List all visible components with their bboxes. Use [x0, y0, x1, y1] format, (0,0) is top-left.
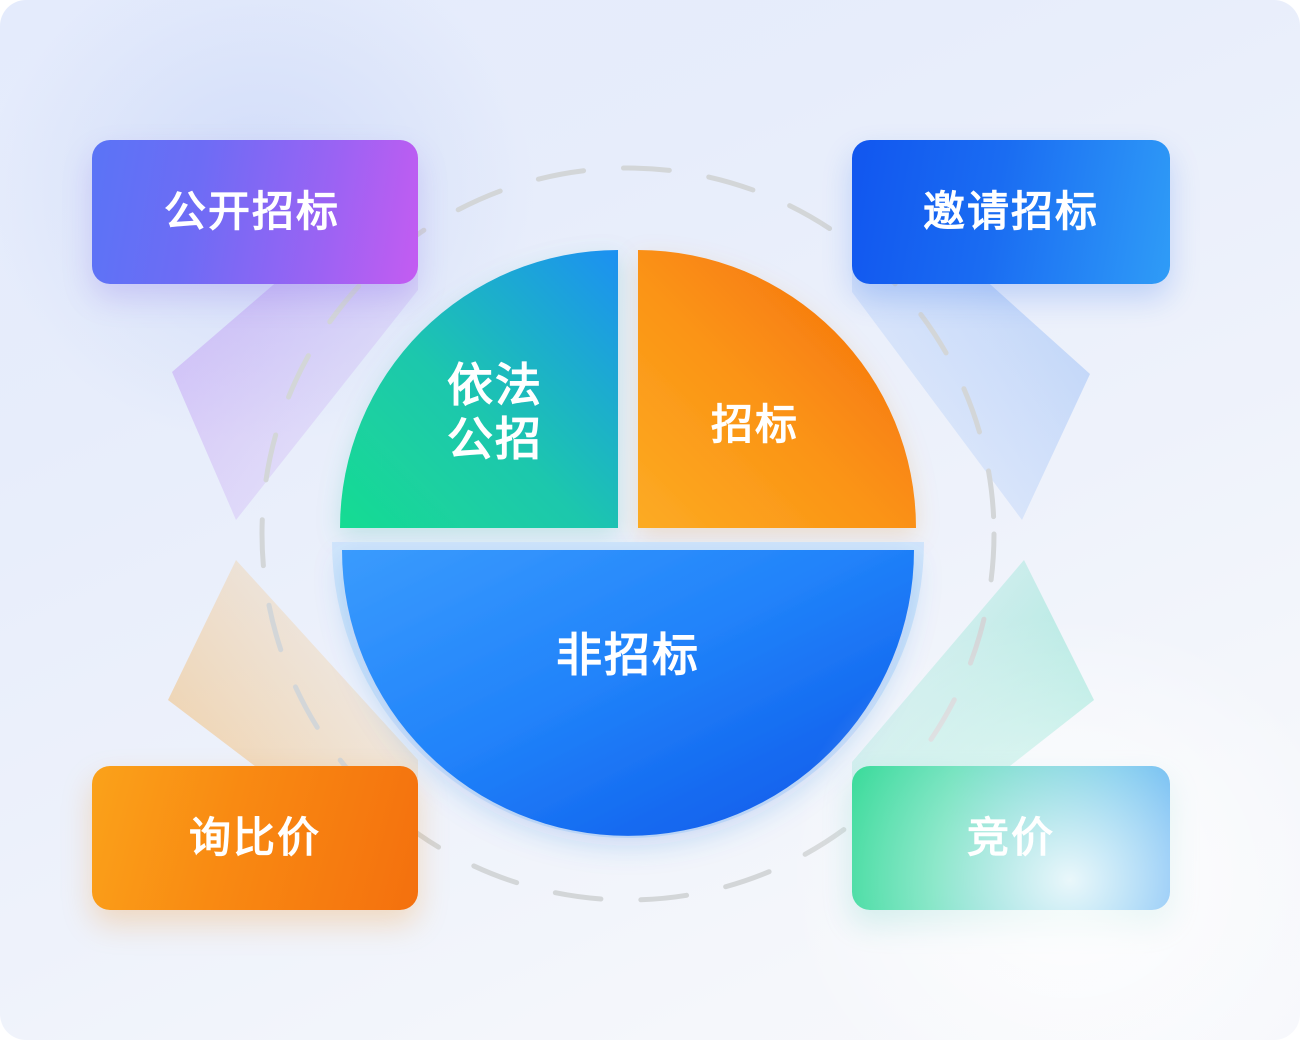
card-inquiry-price-label: 询比价 — [92, 817, 418, 859]
card-bidding-label: 竞价 — [852, 817, 1170, 859]
card-public-tender-label: 公开招标 — [92, 191, 412, 233]
card-public-tender[interactable]: 公开招标 — [92, 140, 418, 284]
pie-slice-feizhaobiao[interactable] — [342, 550, 914, 836]
card-invited-tender[interactable]: 邀请招标 — [852, 140, 1170, 284]
diagram-canvas: 依法 公招 招标 非招标 公开招标 邀请招标 询比价 竞价 — [0, 0, 1300, 1040]
card-bidding[interactable]: 竞价 — [852, 766, 1170, 910]
card-inquiry-price[interactable]: 询比价 — [92, 766, 418, 910]
card-invited-tender-label: 邀请招标 — [852, 191, 1170, 233]
